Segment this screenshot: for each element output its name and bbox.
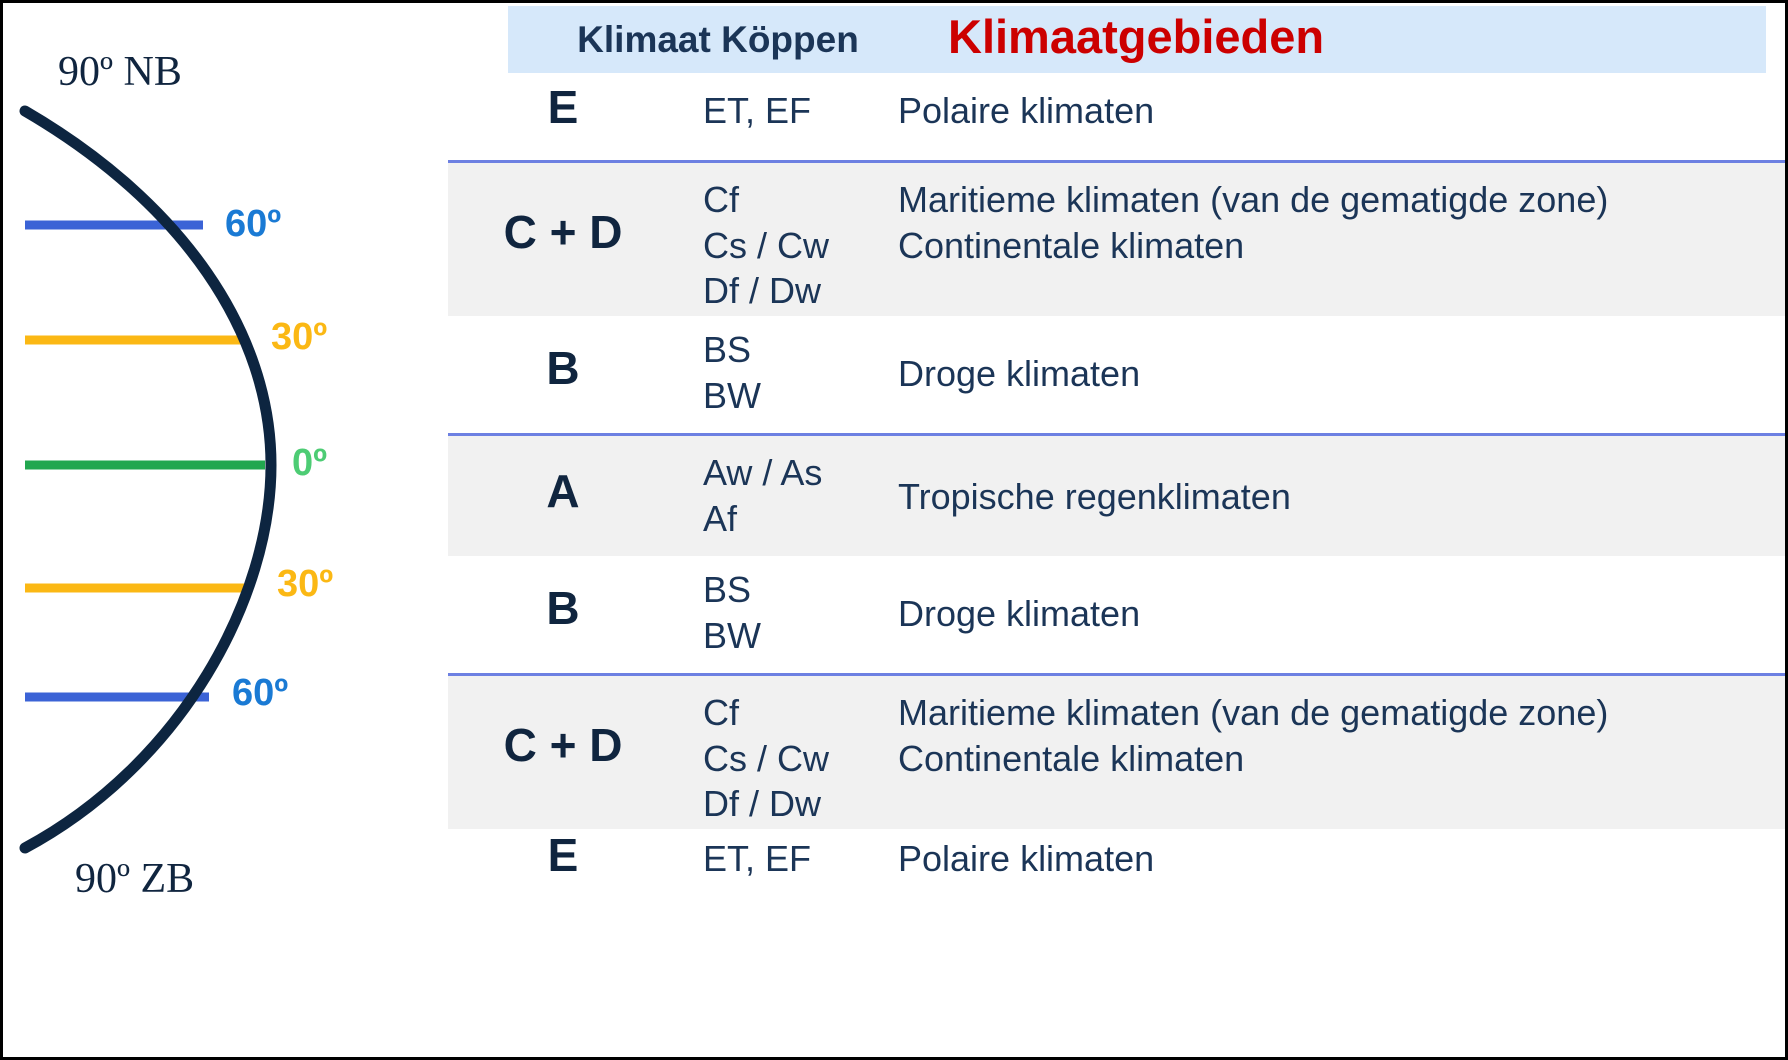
cell-climate-description: Polaire klimaten	[898, 88, 1658, 134]
koppen-code-line: ET, EF	[703, 836, 811, 882]
table-row: EET, EFPolaire klimaten	[448, 826, 1785, 908]
climate-description-line: Droge klimaten	[898, 591, 1658, 637]
climate-description-line: Polaire klimaten	[898, 836, 1658, 882]
cell-klimaat-class: A	[448, 464, 678, 518]
koppen-code-line: Df / Dw	[703, 268, 829, 314]
column-header-klimaatgebieden: Klimaatgebieden	[948, 9, 1324, 64]
climate-description-line: Maritieme klimaten (van de gematigde zon…	[898, 177, 1658, 223]
koppen-code-line: BS	[703, 327, 761, 373]
cell-klimaat-class: C + D	[448, 205, 678, 259]
cell-koppen-codes: ET, EF	[703, 836, 811, 882]
cell-climate-description: Droge klimaten	[898, 351, 1658, 397]
cell-klimaat-class: B	[448, 581, 678, 635]
cell-koppen-codes: Aw / AsAf	[703, 450, 822, 541]
table-row: BBSBWDroge klimaten	[448, 313, 1785, 433]
koppen-code-line: ET, EF	[703, 88, 811, 134]
cell-climate-description: Maritieme klimaten (van de gematigde zon…	[898, 690, 1658, 781]
koppen-code-line: Cf	[703, 690, 829, 736]
cell-climate-description: Maritieme klimaten (van de gematigde zon…	[898, 177, 1658, 268]
cell-climate-description: Droge klimaten	[898, 591, 1658, 637]
cell-climate-description: Polaire klimaten	[898, 836, 1658, 882]
koppen-code-line: Cs / Cw	[703, 223, 829, 269]
latitude-label-equator: 0º	[292, 444, 327, 482]
climate-description-line: Droge klimaten	[898, 351, 1658, 397]
globe-arc-svg	[3, 3, 443, 1057]
pole-label-south: 90º ZB	[75, 858, 194, 900]
table-row: AAw / AsAfTropische regenklimaten	[448, 433, 1785, 556]
climate-description-line: Maritieme klimaten (van de gematigde zon…	[898, 690, 1658, 736]
cell-klimaat-class: B	[448, 341, 678, 395]
koppen-code-line: Af	[703, 496, 822, 542]
koppen-code-line: BW	[703, 373, 761, 419]
climate-zones-infographic: 90º NB 60º 30º 0º 30º 60º 90º ZB Klimaat…	[0, 0, 1788, 1060]
table-row: EET, EFPolaire klimaten	[448, 78, 1785, 160]
koppen-code-line: Cs / Cw	[703, 736, 829, 782]
latitude-globe-diagram: 90º NB 60º 30º 0º 30º 60º 90º ZB	[3, 3, 443, 1057]
koppen-code-line: BS	[703, 567, 761, 613]
cell-klimaat-class: E	[448, 828, 678, 882]
cell-klimaat-class: E	[448, 80, 678, 134]
climate-description-line: Tropische regenklimaten	[898, 474, 1658, 520]
cell-klimaat-class: C + D	[448, 718, 678, 772]
table-row: C + DCfCs / CwDf / DwMaritieme klimaten …	[448, 673, 1785, 829]
koppen-code-line: Df / Dw	[703, 781, 829, 827]
cell-koppen-codes: CfCs / CwDf / Dw	[703, 690, 829, 827]
climate-description-line: Polaire klimaten	[898, 88, 1658, 134]
cell-koppen-codes: BSBW	[703, 327, 761, 418]
latitude-label-60s: 60º	[232, 674, 288, 712]
cell-koppen-codes: ET, EF	[703, 88, 811, 134]
latitude-label-30s: 30º	[277, 565, 333, 603]
pole-label-north: 90º NB	[58, 51, 182, 93]
cell-koppen-codes: CfCs / CwDf / Dw	[703, 177, 829, 314]
column-header-koppen: Klimaat Köppen	[508, 19, 928, 61]
table-row: BBSBWDroge klimaten	[448, 553, 1785, 673]
table-header-band: Klimaat Köppen Klimaatgebieden	[508, 6, 1766, 73]
koppen-code-line: BW	[703, 613, 761, 659]
koppen-code-line: Aw / As	[703, 450, 822, 496]
latitude-label-30n: 30º	[271, 318, 327, 356]
cell-climate-description: Tropische regenklimaten	[898, 474, 1658, 520]
koppen-code-line: Cf	[703, 177, 829, 223]
table-row: C + DCfCs / CwDf / DwMaritieme klimaten …	[448, 160, 1785, 316]
latitude-label-60n: 60º	[225, 205, 281, 243]
cell-koppen-codes: BSBW	[703, 567, 761, 658]
climate-description-line: Continentale klimaten	[898, 223, 1658, 269]
climate-description-line: Continentale klimaten	[898, 736, 1658, 782]
climate-classification-table: Klimaat Köppen Klimaatgebieden EET, EFPo…	[443, 3, 1785, 1057]
